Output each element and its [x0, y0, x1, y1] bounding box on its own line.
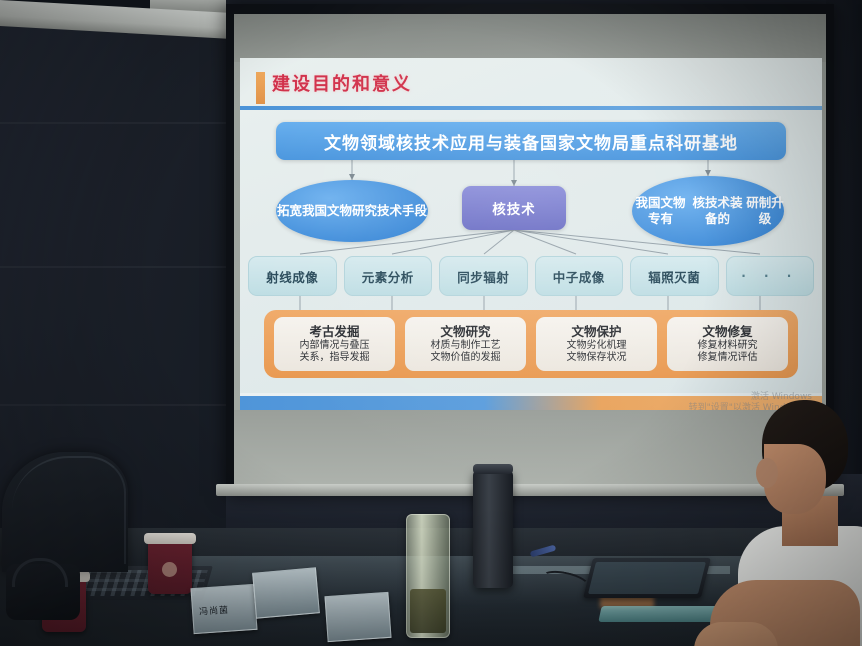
tech-box: 同步辐射	[439, 256, 528, 296]
title-accent-bar	[256, 72, 265, 104]
application-box: 考古发掘 内部情况与叠压 关系，指导发掘	[274, 317, 395, 371]
application-line2: 文物价值的发掘	[431, 352, 501, 364]
tumbler-lid	[473, 464, 513, 474]
seated-person	[742, 400, 862, 646]
application-box: 文物保护 文物劣化机理 文物保存状况	[536, 317, 657, 371]
screen-top-margin	[234, 14, 826, 62]
application-line2: 关系，指导发掘	[300, 352, 370, 364]
cup-logo	[162, 562, 177, 577]
tech-box-ellipsis: · · ·	[726, 256, 815, 296]
name-placard	[252, 567, 320, 618]
remote-control[interactable]	[598, 606, 717, 622]
application-title: 文物研究	[440, 324, 490, 339]
coffee-cup	[148, 540, 192, 594]
title-underline	[240, 106, 822, 110]
person-ear	[756, 458, 778, 488]
ellipse-right-goal: 我国文物专有 核技术装备的 研制升级	[632, 176, 784, 246]
application-line1: 材质与制作工艺	[431, 340, 501, 352]
ellipse-left-line1: 拓宽我国文物	[277, 203, 352, 219]
tech-box: 射线成像	[248, 256, 337, 296]
tech-box: 中子成像	[535, 256, 624, 296]
screen-bottom-margin	[234, 410, 826, 488]
conference-room-scene: 建设目的和意义 文物领域核技术应用与装备国家文物局重点科研基地 拓宽我国文物 研…	[0, 0, 862, 646]
application-box: 文物修复 修复材料研究 修复情况评估	[667, 317, 788, 371]
ellipse-right-line3: 研制升级	[746, 195, 784, 227]
tea-leaves	[410, 589, 446, 633]
application-title: 文物保护	[571, 324, 621, 339]
slide-header-box: 文物领域核技术应用与装备国家文物局重点科研基地	[276, 122, 786, 160]
ellipse-left-line2: 研究技术手段	[352, 203, 427, 219]
application-title: 文物修复	[702, 324, 752, 339]
name-placard	[324, 592, 391, 642]
application-line2: 文物保存状况	[567, 352, 627, 364]
ellipse-left-goal: 拓宽我国文物 研究技术手段	[276, 180, 428, 242]
glass-tea-thermos	[406, 514, 450, 638]
chair-edge-highlight	[12, 456, 126, 564]
application-box: 文物研究 材质与制作工艺 文物价值的发掘	[405, 317, 526, 371]
black-tumbler	[473, 470, 513, 588]
tablet-device[interactable]	[583, 558, 711, 598]
presentation-slide: 建设目的和意义 文物领域核技术应用与装备国家文物局重点科研基地 拓宽我国文物 研…	[240, 58, 822, 410]
slide-title: 建设目的和意义	[272, 70, 412, 96]
center-box-nuclear-tech: 核技术	[462, 186, 566, 230]
applications-band: 考古发掘 内部情况与叠压 关系，指导发掘 文物研究 材质与制作工艺 文物价值的发…	[264, 310, 798, 378]
application-line1: 修复材料研究	[698, 340, 758, 352]
tablet-screen	[588, 562, 706, 594]
application-line2: 修复情况评估	[698, 352, 758, 364]
ellipse-right-line2: 核技术装备的	[689, 195, 746, 227]
application-line1: 内部情况与叠压	[300, 340, 370, 352]
name-placard: 冯尚菌	[190, 584, 257, 634]
placard-name: 冯尚菌	[199, 603, 230, 618]
left-wall-seam	[0, 14, 232, 534]
tech-box: 元素分析	[344, 256, 433, 296]
ellipse-right-line1: 我国文物专有	[632, 195, 689, 227]
technology-row: 射线成像 元素分析 同步辐射 中子成像 辐照灭菌 · · ·	[248, 256, 814, 296]
slide-title-row: 建设目的和意义	[240, 70, 822, 108]
application-title: 考古发掘	[309, 324, 359, 339]
tech-box: 辐照灭菌	[630, 256, 719, 296]
application-line1: 文物劣化机理	[567, 340, 627, 352]
